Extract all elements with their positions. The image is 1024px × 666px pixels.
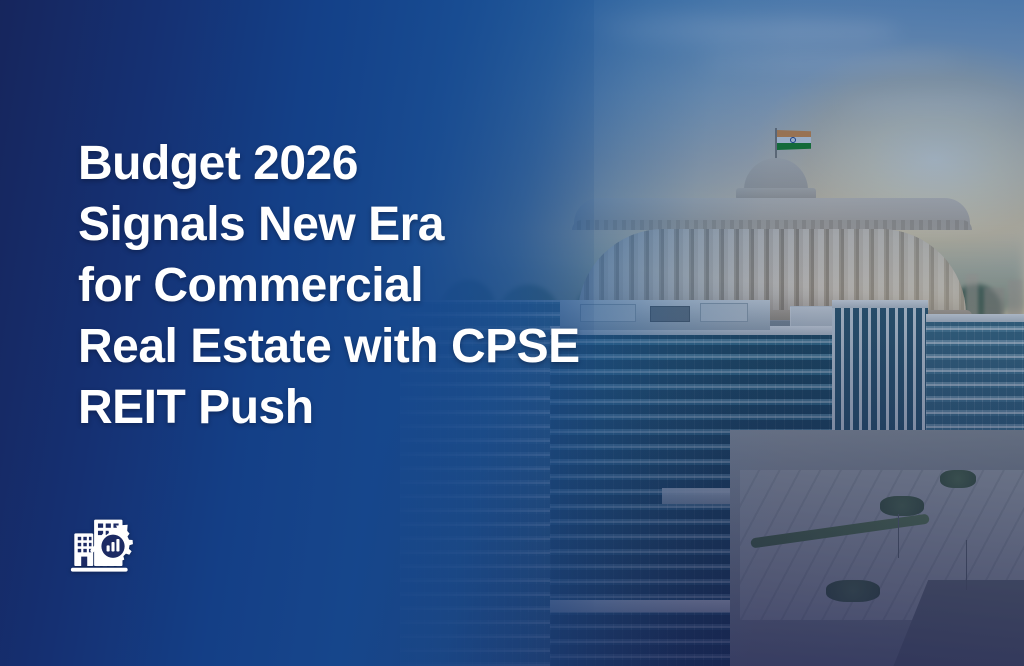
banner-content: Budget 2026 Signals New Era for Commerci… bbox=[0, 0, 1024, 666]
commercial-real-estate-growth-logo-icon bbox=[64, 505, 150, 591]
banner-root: Budget 2026 Signals New Era for Commerci… bbox=[0, 0, 1024, 666]
page-title: Budget 2026 Signals New Era for Commerci… bbox=[78, 133, 768, 438]
